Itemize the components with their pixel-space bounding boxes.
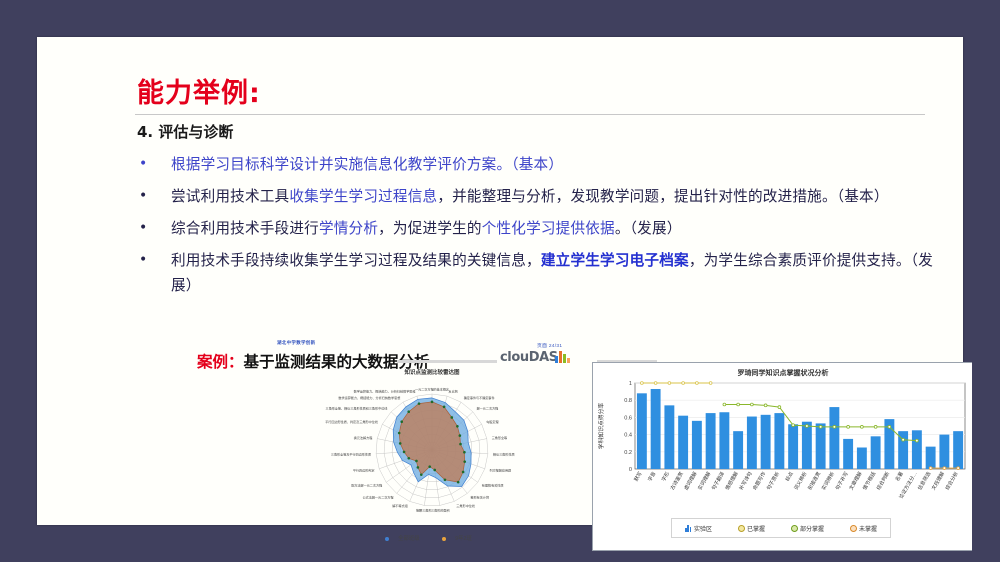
bullet-marker: • <box>139 152 147 177</box>
svg-text:列方程解应用题: 列方程解应用题 <box>490 468 512 473</box>
page-title: 能力举例: <box>137 71 261 110</box>
partial-marker-icon <box>791 525 798 532</box>
svg-text:等腰三角形: 等腰三角形 <box>416 508 431 513</box>
case-label: 案例： <box>197 353 244 371</box>
bar-chart-svg: 0.20.40.60.810学科知识点得分率默写字音字形古诗鉴赏虚词理解实词理解… <box>593 377 972 517</box>
svg-text:勾股定理: 勾股定理 <box>486 419 498 424</box>
cloudas-bars-icon <box>555 350 569 363</box>
radar-legend: 全部班级 9年2班 <box>287 534 577 542</box>
bullet-text-segment: 。（发展） <box>615 220 682 237</box>
embedded-screenshot: 湖北中学数学创新 页面 24/31 案例：基于监测结果的大数据分析 clouDA… <box>197 340 972 555</box>
title-divider <box>135 114 925 115</box>
svg-text:换元法解方程: 换元法解方程 <box>354 435 373 440</box>
svg-text:0: 0 <box>629 467 632 473</box>
svg-text:0.8: 0.8 <box>624 398 632 404</box>
bar-legend-label-2: 部分掌握 <box>800 524 824 533</box>
bullet-text-segment: 学情分析 <box>319 220 378 237</box>
bullet-text-segment: 根据学习目标科学设计并实施信息化教学评价方案。（基本） <box>171 156 563 173</box>
unmastered-marker-icon <box>850 525 857 532</box>
svg-text:相似三角形性质: 相似三角形性质 <box>493 452 515 457</box>
svg-text:学科知识点得分率: 学科知识点得分率 <box>597 403 605 450</box>
bar-plot-area: 0.20.40.60.810学科知识点得分率默写字音字形古诗鉴赏虚词理解实词理解… <box>593 377 972 507</box>
bullet-marker: • <box>139 184 147 209</box>
svg-text:1: 1 <box>629 381 632 387</box>
radar-legend-item-1: 9年2班 <box>442 536 479 542</box>
legend-swatch-icon <box>442 537 446 541</box>
bullet-item: •综合利用技术手段进行学情分析，为促进学生的个性化学习提供依据。（发展） <box>135 216 935 241</box>
cloudas-logo: clouDAS <box>500 350 558 365</box>
bullet-item: •尝试利用技术工具收集学生学习过程信息，并能整理与分析，发现教学问题，提出针对性… <box>135 184 935 209</box>
svg-text:一元二次方程的基本概念: 一元二次方程的基本概念 <box>415 386 449 391</box>
svg-text:配方法解一元二次方程: 配方法解一元二次方程 <box>351 483 382 488</box>
bar-legend-label-1: 已掌握 <box>747 524 765 533</box>
svg-text:三角形全等、相似三角形性质和三角形中位线: 三角形全等、相似三角形性质和三角形中位线 <box>326 406 388 411</box>
bullet-text-segment: 利用技术手段持续收集学生学习过程及结果的关键信息， <box>171 252 541 269</box>
svg-text:数学运算能力、概括能力、分析归纳数学思维: 数学运算能力、概括能力、分析归纳数学思维 <box>354 389 416 394</box>
radar-legend-label-0: 全部班级 <box>398 536 420 542</box>
svg-text:三角形全等: 三角形全等 <box>492 435 507 440</box>
bullet-item: •根据学习目标科学设计并实施信息化教学评价方案。（基本） <box>135 152 935 177</box>
svg-text:数学运算能力、概括能力、分析归纳数学思想: 数学运算能力、概括能力、分析归纳数学思想 <box>338 395 400 400</box>
legend-swatch-icon <box>385 537 389 541</box>
svg-text:0.4: 0.4 <box>624 433 632 439</box>
svg-text:0.2: 0.2 <box>624 450 632 456</box>
mastered-marker-icon <box>738 525 745 532</box>
radar-svg: 一元二次方程的基本概念反比例确定事件与不确定事件解一元二次方程勾股定理三角形全等… <box>287 376 577 531</box>
bullet-text-segment: 建立学生学习电子档案 <box>541 252 689 269</box>
svg-text:公式法解一元二次方程: 公式法解一元二次方程 <box>363 495 394 500</box>
svg-text:综合分析: 综合分析 <box>944 471 960 492</box>
bullet-text-segment: ，并能整理与分析，发现教学问题，提出针对性的改进措施。（基本） <box>437 188 888 205</box>
bullet-marker: • <box>139 216 147 241</box>
svg-text:解不等式组: 解不等式组 <box>392 503 407 508</box>
watermark-doc: 湖北中学数学创新 <box>277 340 315 346</box>
bar-legend-label-0: 实验区 <box>694 524 712 533</box>
svg-text:反比例: 反比例 <box>449 389 458 394</box>
bullet-text-segment: 个性化学习提供依据 <box>482 220 615 237</box>
bar-legend-item-0: 实验区 <box>685 524 712 533</box>
bullet-text-segment: 收集学生学习过程信息 <box>289 188 437 205</box>
radar-chart-title: 知识点监测比较雷达图 <box>287 368 577 376</box>
svg-text:三角形全等及平行四边形性质: 三角形全等及平行四边形性质 <box>331 452 371 457</box>
radar-plot-area: 一元二次方程的基本概念反比例确定事件与不确定事件解一元二次方程勾股定理三角形全等… <box>287 376 577 531</box>
svg-text:名著: 名著 <box>894 471 905 483</box>
svg-text:标点: 标点 <box>784 471 795 483</box>
svg-text:综合判断: 综合判断 <box>875 471 891 492</box>
section-subtitle: 4. 评估与诊断 <box>137 121 233 142</box>
slide-canvas: 能力举例: 4. 评估与诊断 •根据学习目标科学设计并实施信息化教学评价方案。（… <box>37 37 963 525</box>
watermark-page: 页面 24/31 <box>537 342 562 349</box>
svg-text:整形有关计算: 整形有关计算 <box>471 495 490 500</box>
svg-text:解一元二次方程: 解一元二次方程 <box>477 406 499 411</box>
radar-legend-item-0: 全部班级 <box>385 536 427 542</box>
svg-text:字形: 字形 <box>660 471 671 483</box>
bar-chart-panel: 罗琦同学知识点掌握状况分析 0.20.40.60.810学科知识点得分率默写字音… <box>592 362 972 551</box>
bar-legend-item-3: 未掌握 <box>850 524 877 533</box>
bullet-list: •根据学习目标科学设计并实施信息化教学评价方案。（基本）•尝试利用技术工具收集学… <box>135 152 935 305</box>
bar-legend-item-2: 部分掌握 <box>791 524 824 533</box>
bar-series-icon <box>685 525 692 532</box>
bullet-text-segment: 尝试利用技术工具 <box>171 188 289 205</box>
svg-text:字音: 字音 <box>646 471 657 483</box>
svg-text:默写: 默写 <box>633 471 644 483</box>
case-divider-left <box>397 360 497 363</box>
svg-text:三角形中位线: 三角形中位线 <box>456 503 475 508</box>
svg-text:0.6: 0.6 <box>624 415 632 421</box>
svg-text:三角形的面积: 三角形的面积 <box>431 508 450 513</box>
radar-chart: 知识点监测比较雷达图 一元二次方程的基本概念反比例确定事件与不确定事件解一元二次… <box>287 368 577 548</box>
bar-legend-label-3: 未掌握 <box>859 524 877 533</box>
svg-text:确定事件与不确定事件: 确定事件与不确定事件 <box>464 395 495 400</box>
bullet-marker: • <box>139 248 147 273</box>
radar-legend-label-1: 9年2班 <box>455 536 472 542</box>
svg-text:句子赏析: 句子赏析 <box>765 471 781 492</box>
bullet-item: •利用技术手段持续收集学生学习过程及结果的关键信息，建立学生学习电子档案，为学生… <box>135 248 935 298</box>
svg-text:有理数有关性质: 有理数有关性质 <box>482 483 504 488</box>
bar-legend-item-1: 已掌握 <box>738 524 765 533</box>
bar-chart-legend: 实验区 已掌握 部分掌握 未掌握 <box>671 518 891 538</box>
svg-text:平行四边形判定: 平行四边形判定 <box>353 468 375 473</box>
svg-text:平行四边形性质、判定及三角形中位线: 平行四边形性质、判定及三角形中位线 <box>325 419 378 424</box>
bullet-text-segment: ，为促进学生的 <box>378 220 482 237</box>
bullet-text-segment: 综合利用技术手段进行 <box>171 220 319 237</box>
